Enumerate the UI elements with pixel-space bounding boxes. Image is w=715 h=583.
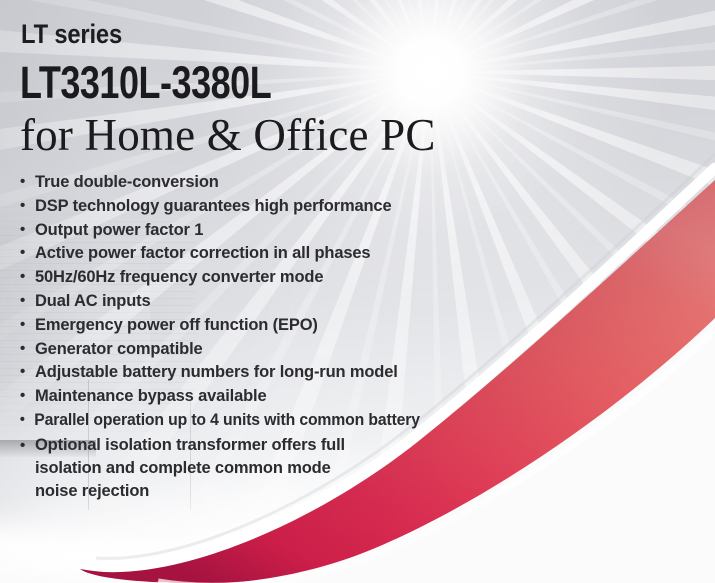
list-item: Parallel operation up to 4 units with co… — [18, 410, 496, 431]
list-item: Dual AC inputs — [18, 291, 518, 312]
list-item: DSP technology guarantees high performan… — [18, 196, 518, 217]
list-item: Emergency power off function (EPO) — [18, 315, 518, 336]
list-item: Optional isolation transformer offers fu… — [18, 434, 518, 503]
banner-subtitle: for Home & Office PC — [20, 110, 436, 160]
product-banner: LT series LT3310L-3380L for Home & Offic… — [0, 0, 715, 583]
list-item: Generator compatible — [18, 339, 518, 360]
list-item: Adjustable battery numbers for long-run … — [18, 362, 518, 383]
feature-list: True double-conversion DSP technology gu… — [18, 172, 518, 506]
list-item: True double-conversion — [18, 172, 518, 193]
list-item: Maintenance bypass available — [18, 386, 518, 407]
list-item: 50Hz/60Hz frequency converter mode — [18, 267, 518, 288]
series-label: LT series — [21, 21, 122, 48]
list-item: Active power factor correction in all ph… — [18, 243, 518, 264]
list-item: Output power factor 1 — [18, 220, 518, 241]
model-number-title: LT3310L-3380L — [20, 60, 271, 105]
